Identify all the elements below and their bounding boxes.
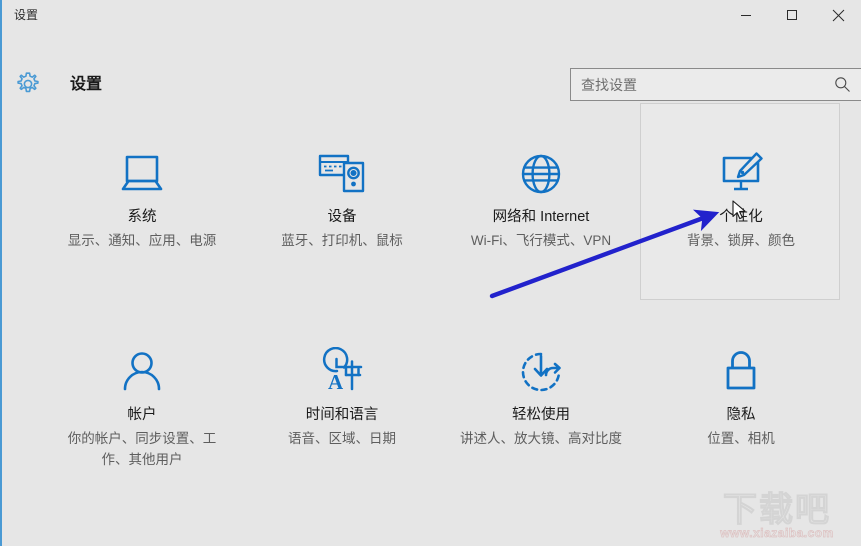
- close-icon: [832, 9, 845, 22]
- tile-label: 设备: [242, 207, 442, 227]
- tile-description: 背景、锁屏、颜色: [657, 230, 825, 251]
- close-button[interactable]: [815, 0, 861, 30]
- tile-personalization[interactable]: 个性化 背景、锁屏、颜色: [640, 103, 840, 300]
- maximize-button[interactable]: [769, 0, 815, 30]
- personalization-icon: [641, 146, 841, 202]
- ease-of-access-icon: [441, 344, 641, 400]
- tile-description: 位置、相机: [657, 428, 825, 449]
- settings-tiles-grid: 系统 显示、通知、应用、电源 设备 蓝牙、打印机、鼠: [2, 82, 861, 502]
- settings-header: 设置: [2, 30, 861, 82]
- settings-window: 设置: [0, 0, 861, 546]
- minimize-icon: [740, 9, 752, 21]
- tile-description: 语音、区域、日期: [258, 428, 426, 449]
- clock-language-icon: A: [242, 344, 442, 400]
- tile-privacy[interactable]: 隐私 位置、相机: [640, 301, 840, 498]
- tile-label: 隐私: [641, 405, 841, 425]
- tile-time-language[interactable]: A 时间和语言 语音、区域、日期: [241, 301, 441, 498]
- tile-ease-of-access[interactable]: 轻松使用 讲述人、放大镜、高对比度: [440, 301, 640, 498]
- laptop-icon: [42, 146, 242, 202]
- tile-system[interactable]: 系统 显示、通知、应用、电源: [41, 103, 241, 300]
- user-icon: [42, 344, 242, 400]
- devices-icon: [242, 146, 442, 202]
- tile-description: 讲述人、放大镜、高对比度: [457, 428, 625, 449]
- tile-network-internet[interactable]: 网络和 Internet Wi-Fi、飞行模式、VPN: [440, 103, 640, 300]
- title-bar: 设置: [2, 0, 861, 30]
- lock-icon: [641, 344, 841, 400]
- tile-label: 网络和 Internet: [441, 207, 641, 227]
- tile-label: 时间和语言: [242, 405, 442, 425]
- tile-label: 系统: [42, 207, 242, 227]
- maximize-icon: [786, 9, 798, 21]
- tile-description: 蓝牙、打印机、鼠标: [258, 230, 426, 251]
- globe-icon: [441, 146, 641, 202]
- tile-description: 显示、通知、应用、电源: [58, 230, 226, 251]
- minimize-button[interactable]: [723, 0, 769, 30]
- tile-label: 个性化: [641, 207, 841, 227]
- svg-text:A: A: [328, 370, 344, 394]
- tile-description: 你的帐户、同步设置、工作、其他用户: [58, 428, 226, 470]
- tile-description: Wi-Fi、飞行模式、VPN: [457, 230, 625, 251]
- tile-label: 帐户: [42, 405, 242, 425]
- tile-devices[interactable]: 设备 蓝牙、打印机、鼠标: [241, 103, 441, 300]
- tile-accounts[interactable]: 帐户 你的帐户、同步设置、工作、其他用户: [41, 301, 241, 498]
- watermark-url: www.xiazaiba.com: [701, 526, 853, 540]
- window-controls: [723, 0, 861, 30]
- window-title: 设置: [14, 7, 38, 23]
- tile-label: 轻松使用: [441, 405, 641, 425]
